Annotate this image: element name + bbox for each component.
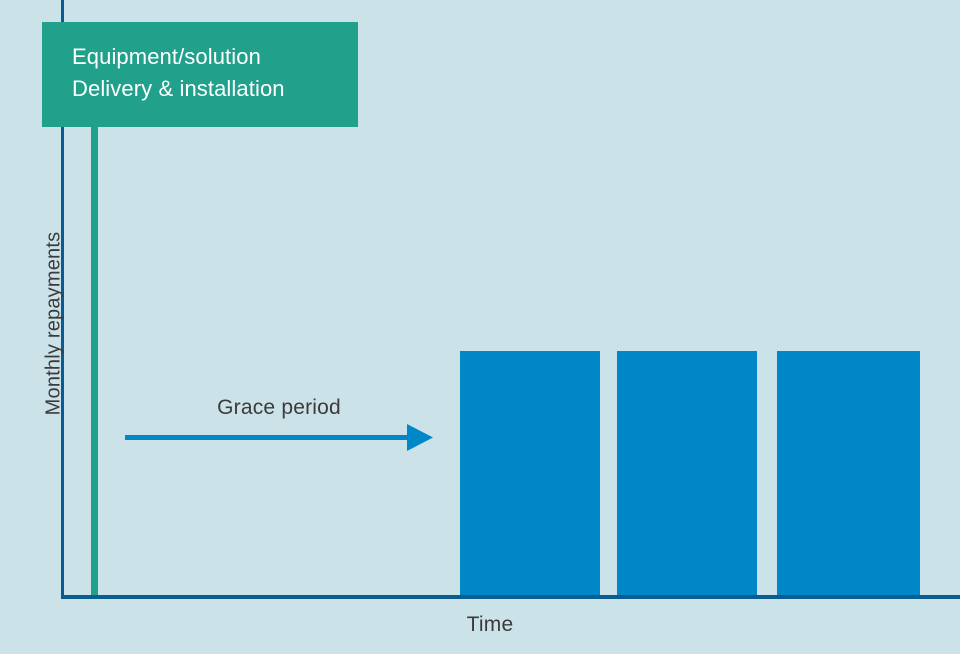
bar-repayment-3	[777, 351, 920, 597]
delivery-marker-line	[91, 118, 98, 597]
bar-repayment-1	[460, 351, 600, 597]
chart-canvas: Equipment/solution Delivery & installati…	[0, 0, 960, 654]
bar-repayment-2	[617, 351, 757, 597]
x-axis-line	[61, 595, 960, 599]
x-axis-title: Time	[0, 613, 960, 637]
delivery-callout-line-2: Delivery & installation	[72, 73, 358, 105]
grace-period-label: Grace period	[125, 396, 433, 420]
delivery-callout-line-1: Equipment/solution	[72, 41, 358, 73]
y-axis-title: Monthly repayments	[43, 194, 66, 454]
grace-period-arrow-icon	[125, 423, 435, 453]
delivery-callout-box: Equipment/solution Delivery & installati…	[42, 22, 358, 127]
